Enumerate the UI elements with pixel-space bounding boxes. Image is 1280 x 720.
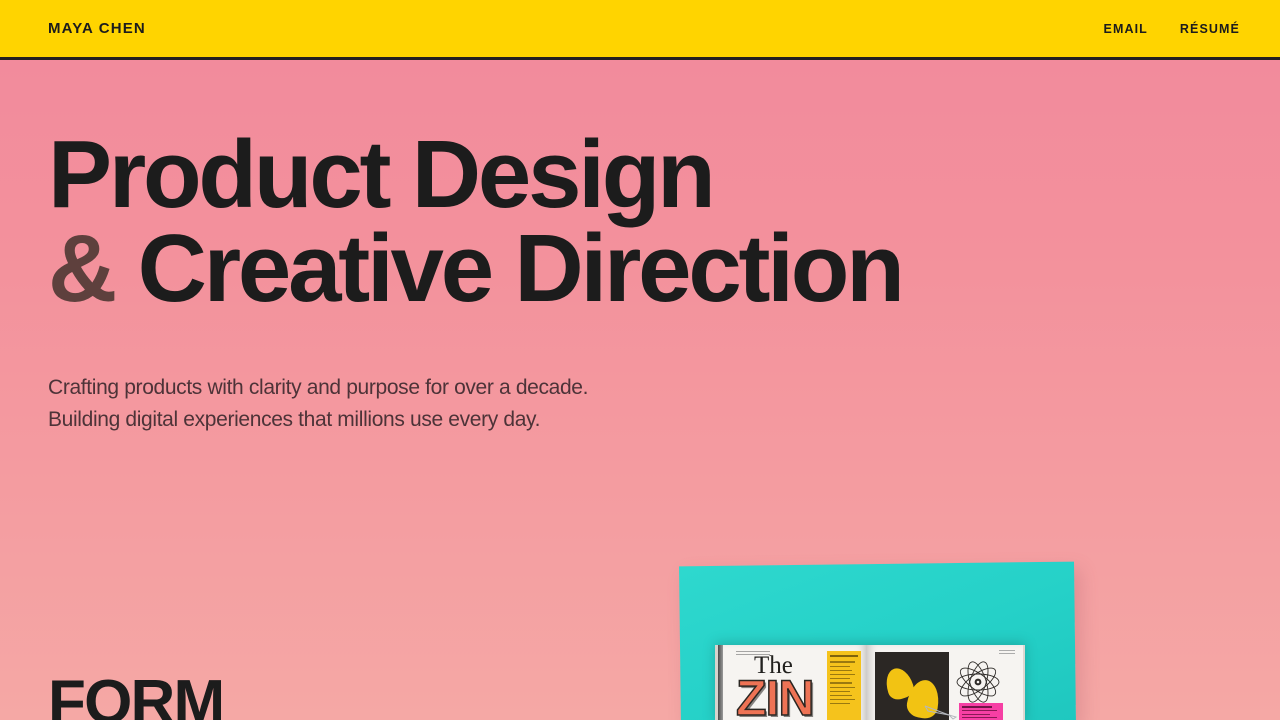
- hero-title-line-2: & Creative Direction: [48, 222, 1232, 316]
- magazine-yellow-sidebar: [827, 651, 861, 720]
- sidebar-text-line: [830, 674, 855, 675]
- pink-sticky-note: [959, 703, 1003, 720]
- hero-title-line-1: Product Design: [48, 128, 1232, 222]
- nav-link-email[interactable]: EMAIL: [1104, 22, 1148, 36]
- sidebar-text-line: [830, 666, 850, 667]
- sidebar-text-line: [830, 678, 850, 679]
- sidebar-heading-line: [830, 655, 858, 657]
- sidebar-text-line: [830, 699, 855, 700]
- sticky-text-line: [962, 714, 990, 715]
- sticky-text-line: [962, 717, 997, 718]
- page-title: Product Design & Creative Direction: [48, 128, 1232, 316]
- sticky-text-line: [962, 710, 997, 711]
- magazine-spine-icon: [718, 645, 723, 720]
- hero-subtitle-line-2: Building digital experiences that millio…: [48, 408, 540, 431]
- pen-illustration-icon: [923, 703, 959, 720]
- hero-title-line-2-text: Creative Direction: [138, 215, 902, 322]
- sidebar-text-line: [830, 695, 852, 696]
- hero-subtitle-line-1: Crafting products with clarity and purpo…: [48, 376, 588, 399]
- open-magazine: The ZIN: [715, 645, 1025, 720]
- sidebar-text-line: [830, 703, 850, 704]
- sidebar-text-line: [830, 691, 850, 692]
- site-header: MAYA CHEN EMAIL RÉSUMÉ: [0, 0, 1280, 60]
- brand-logo[interactable]: MAYA CHEN: [48, 20, 146, 37]
- sidebar-text-line: [830, 670, 852, 671]
- sidebar-text-line: [830, 661, 855, 662]
- hero-section: Product Design & Creative Direction Craf…: [0, 60, 1280, 436]
- magazine-photo: The ZIN: [660, 548, 1100, 720]
- sidebar-text-line: [830, 687, 855, 688]
- sidebar-text-line: [830, 682, 852, 683]
- hero-subtitle: Crafting products with clarity and purpo…: [48, 372, 1232, 436]
- magazine-left-page: The ZIN: [715, 645, 867, 720]
- magazine-folio-lines: [999, 650, 1015, 654]
- magazine-zine-title: ZIN: [736, 673, 814, 720]
- magazine-right-page: [867, 645, 1025, 720]
- sticky-heading-line: [962, 706, 992, 708]
- hero-ampersand: &: [48, 215, 114, 322]
- section-heading-form: FORM: [48, 672, 223, 720]
- nav-link-resume[interactable]: RÉSUMÉ: [1180, 22, 1240, 36]
- main-navigation: EMAIL RÉSUMÉ: [1104, 22, 1240, 36]
- atom-diagram-icon: [955, 661, 1001, 703]
